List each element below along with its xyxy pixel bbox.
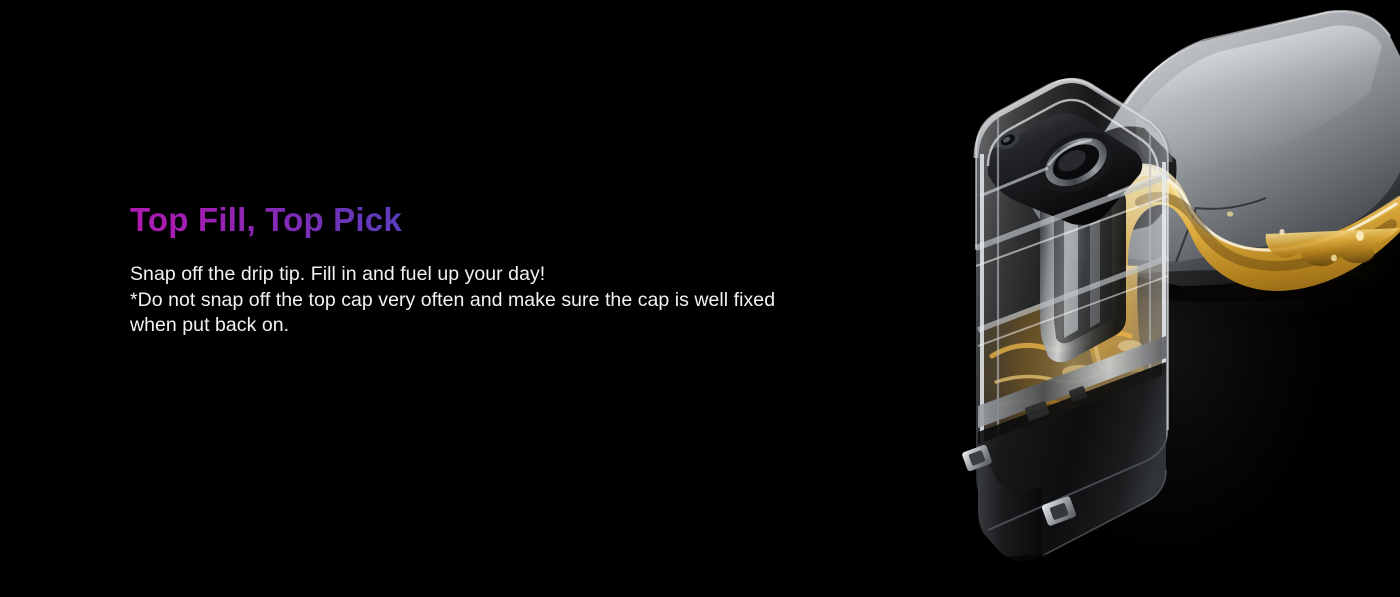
product-image (930, 0, 1400, 597)
description-line-2: *Do not snap off the top cap very often … (130, 288, 850, 314)
description-line-3: when put back on. (130, 313, 850, 339)
description-text: Snap off the drip tip. Fill in and fuel … (130, 262, 850, 339)
promo-banner: Top Fill, Top Pick Snap off the drip tip… (0, 0, 1400, 597)
copy-block: Top Fill, Top Pick Snap off the drip tip… (130, 200, 850, 339)
description-line-1: Snap off the drip tip. Fill in and fuel … (130, 262, 850, 288)
page-title: Top Fill, Top Pick (130, 200, 850, 240)
